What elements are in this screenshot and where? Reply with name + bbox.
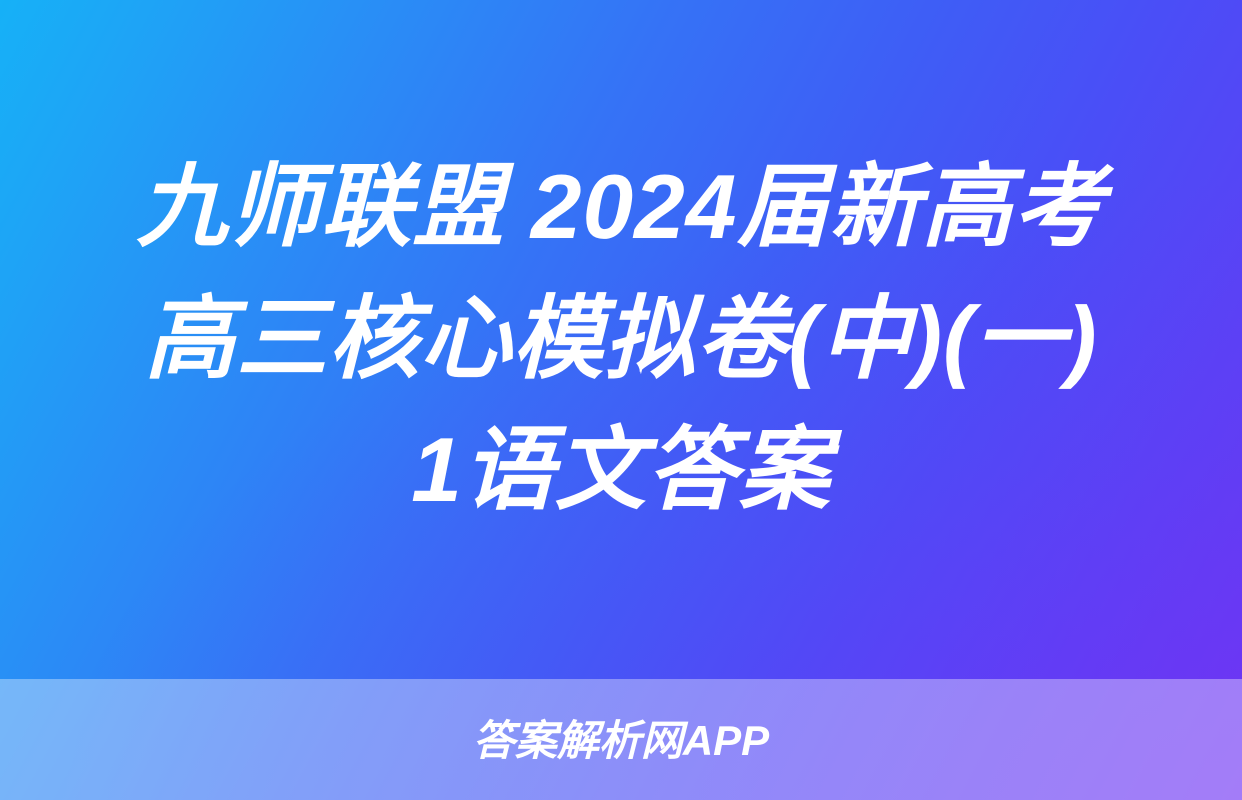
title-line-3: 1语文答案 [411,405,831,537]
title-block: 九师联盟 2024届新高考 高三核心模拟卷(中)(一) 1语文答案 [0,0,1242,679]
watermark-text: 答案解析网APP [473,720,769,762]
title-line-1: 九师联盟 2024届新高考 [137,142,1106,274]
title-line-2: 高三核心模拟卷(中)(一) [144,274,1097,406]
footer-watermark-band: 答案解析网APP [0,679,1242,800]
title-card: 九师联盟 2024届新高考 高三核心模拟卷(中)(一) 1语文答案 答案解析网A… [0,0,1242,800]
